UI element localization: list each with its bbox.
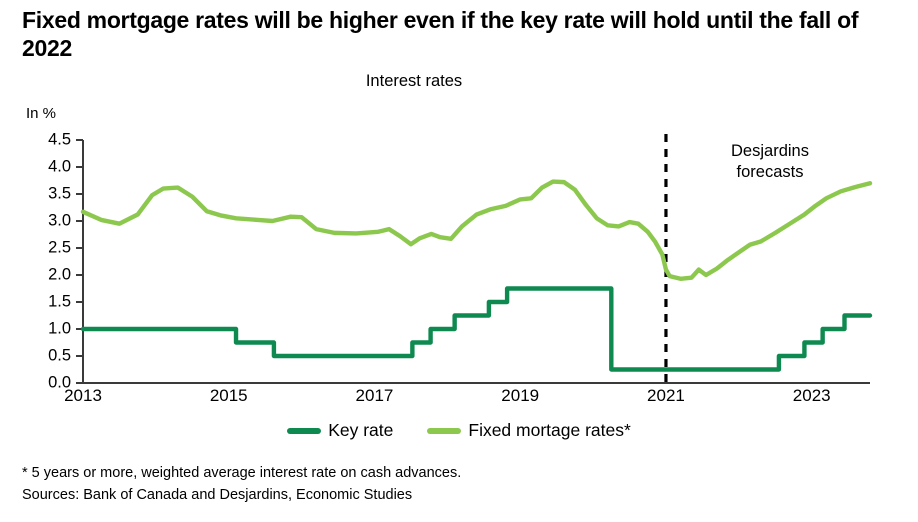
legend-label: Fixed mortage rates* <box>468 420 630 441</box>
x-axis-tick-label: 2015 <box>210 386 248 406</box>
x-axis-tick-label: 2019 <box>501 386 539 406</box>
legend-swatch-icon <box>427 428 461 434</box>
x-axis-tick-label: 2017 <box>356 386 394 406</box>
forecast-annotation-line2: forecasts <box>700 162 840 183</box>
legend-item-2[interactable]: Fixed mortage rates* <box>427 420 630 441</box>
legend-label: Key rate <box>328 420 393 441</box>
y-axis-tick-label: 2.5 <box>25 239 71 258</box>
y-axis-tick-label: 0.5 <box>25 347 71 366</box>
x-axis-tick-label: 2013 <box>64 386 102 406</box>
y-axis-tick-label: 1.0 <box>25 320 71 339</box>
y-axis-tick-label: 3.5 <box>25 185 71 204</box>
series-line-key-rate <box>83 289 870 370</box>
footnote-definition: * 5 years or more, weighted average inte… <box>22 463 461 485</box>
y-axis-tick-label: 4.0 <box>25 158 71 177</box>
forecast-annotation: Desjardins forecasts <box>700 141 840 183</box>
chart-legend: Key rateFixed mortage rates* <box>0 420 918 441</box>
series-line-fixed-mortage-rates <box>83 182 870 279</box>
x-axis-tick-label: 2021 <box>647 386 685 406</box>
y-axis-tick-label: 1.5 <box>25 293 71 312</box>
x-axis-tick-label: 2023 <box>793 386 831 406</box>
y-axis-tick-label: 4.5 <box>25 131 71 150</box>
y-axis-tick-label: 2.0 <box>25 266 71 285</box>
footnote-sources: Sources: Bank of Canada and Desjardins, … <box>22 485 461 507</box>
forecast-annotation-line1: Desjardins <box>700 141 840 162</box>
y-axis-tick-label: 3.0 <box>25 212 71 231</box>
legend-swatch-icon <box>287 428 321 434</box>
legend-item-1[interactable]: Key rate <box>287 420 393 441</box>
chart-footnotes: * 5 years or more, weighted average inte… <box>22 463 461 507</box>
